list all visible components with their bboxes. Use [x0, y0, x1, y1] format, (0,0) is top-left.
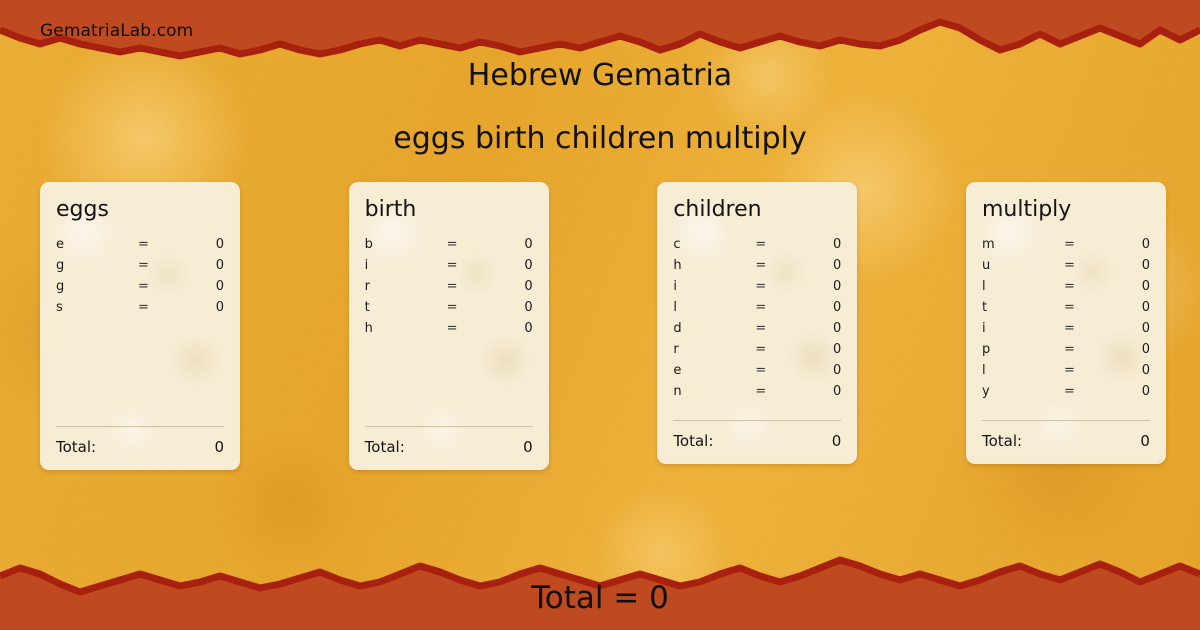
letter-row: g = 0 [56, 258, 224, 279]
letter: y [982, 384, 1064, 399]
letter: e [56, 237, 138, 252]
letter: c [673, 237, 755, 252]
letter-value: 0 [1108, 279, 1150, 294]
letter-value: 0 [1108, 384, 1150, 399]
letter-row: i = 0 [982, 321, 1150, 342]
letter-row: i = 0 [365, 258, 533, 279]
letter: e [673, 363, 755, 378]
equals-sign: = [755, 342, 799, 357]
word-card-children: children c = 0 h = 0 i = 0 l [657, 182, 857, 464]
equals-sign: = [447, 279, 491, 294]
gematria-result-card: GematriaLab.com Hebrew Gematria eggs bir… [0, 0, 1200, 630]
equals-sign: = [755, 321, 799, 336]
letter-value: 0 [491, 279, 533, 294]
letter-value: 0 [1108, 300, 1150, 315]
equals-sign: = [1064, 321, 1108, 336]
card-word: birth [365, 198, 533, 222]
card-word: children [673, 198, 841, 222]
letter: l [673, 300, 755, 315]
phrase-heading: eggs birth children multiply [0, 121, 1200, 156]
card-divider [982, 420, 1150, 421]
letter-value: 0 [491, 300, 533, 315]
letter-row: s = 0 [56, 300, 224, 321]
letter: g [56, 279, 138, 294]
letter-row: g = 0 [56, 279, 224, 300]
letter-row: h = 0 [365, 321, 533, 342]
word-card-eggs: eggs e = 0 g = 0 g = 0 s [40, 182, 240, 470]
card-spacer [365, 342, 533, 417]
letter-value: 0 [799, 321, 841, 336]
letter-row: r = 0 [673, 342, 841, 363]
equals-sign: = [1064, 342, 1108, 357]
card-total-row: Total: 0 [673, 432, 841, 450]
letter: s [56, 300, 138, 315]
equals-sign: = [138, 258, 182, 273]
card-divider [365, 426, 533, 427]
equals-sign: = [755, 300, 799, 315]
equals-sign: = [1064, 237, 1108, 252]
letter-value: 0 [491, 258, 533, 273]
equals-sign: = [447, 258, 491, 273]
total-value: 0 [1140, 432, 1150, 450]
letter-value: 0 [182, 258, 224, 273]
letter-value: 0 [491, 237, 533, 252]
letter-value: 0 [1108, 237, 1150, 252]
letter: i [982, 321, 1064, 336]
letter: p [982, 342, 1064, 357]
letter-value: 0 [1108, 363, 1150, 378]
word-card-multiply: multiply m = 0 u = 0 l = 0 t [966, 182, 1166, 464]
equals-sign: = [447, 300, 491, 315]
equals-sign: = [447, 237, 491, 252]
equals-sign: = [1064, 258, 1108, 273]
equals-sign: = [755, 384, 799, 399]
card-spacer [673, 405, 841, 411]
letter: u [982, 258, 1064, 273]
total-value: 0 [214, 438, 224, 456]
equals-sign: = [755, 237, 799, 252]
letter-value: 0 [799, 300, 841, 315]
letter-row: d = 0 [673, 321, 841, 342]
equals-sign: = [447, 321, 491, 336]
total-value: 0 [832, 432, 842, 450]
card-word: multiply [982, 198, 1150, 222]
equals-sign: = [1064, 384, 1108, 399]
card-total-row: Total: 0 [56, 438, 224, 456]
letter: i [673, 279, 755, 294]
letter: g [56, 258, 138, 273]
letter-row: e = 0 [673, 363, 841, 384]
card-word: eggs [56, 198, 224, 222]
equals-sign: = [138, 300, 182, 315]
letter: l [982, 363, 1064, 378]
letter-value: 0 [1108, 321, 1150, 336]
letter-value-rows: b = 0 i = 0 r = 0 t = 0 [365, 237, 533, 342]
letter-row: c = 0 [673, 237, 841, 258]
total-label: Total: [365, 438, 523, 456]
card-divider [673, 420, 841, 421]
card-spacer [56, 321, 224, 417]
letter: h [673, 258, 755, 273]
letter-row: t = 0 [365, 300, 533, 321]
letter-value: 0 [182, 237, 224, 252]
letter: r [365, 279, 447, 294]
site-logo[interactable]: GematriaLab.com [40, 21, 193, 41]
letter-row: m = 0 [982, 237, 1150, 258]
word-card-list: eggs e = 0 g = 0 g = 0 s [40, 182, 1166, 470]
letter-row: y = 0 [982, 384, 1150, 405]
letter: i [365, 258, 447, 273]
letter-value: 0 [182, 300, 224, 315]
total-value: 0 [523, 438, 533, 456]
equals-sign: = [1064, 363, 1108, 378]
letter-row: u = 0 [982, 258, 1150, 279]
letter: d [673, 321, 755, 336]
letter-value: 0 [799, 342, 841, 357]
letter: l [982, 279, 1064, 294]
letter-row: l = 0 [673, 300, 841, 321]
total-label: Total: [982, 432, 1140, 450]
letter-value: 0 [799, 258, 841, 273]
letter-value: 0 [799, 384, 841, 399]
letter: n [673, 384, 755, 399]
total-label: Total: [56, 438, 214, 456]
card-divider [56, 426, 224, 427]
letter-row: l = 0 [982, 279, 1150, 300]
equals-sign: = [138, 279, 182, 294]
letter-row: b = 0 [365, 237, 533, 258]
word-card-birth: birth b = 0 i = 0 r = 0 t [349, 182, 549, 470]
letter: t [365, 300, 447, 315]
letter: h [365, 321, 447, 336]
card-total-row: Total: 0 [982, 432, 1150, 450]
letter-row: p = 0 [982, 342, 1150, 363]
letter-row: r = 0 [365, 279, 533, 300]
letter: b [365, 237, 447, 252]
letter-value: 0 [1108, 258, 1150, 273]
letter: t [982, 300, 1064, 315]
letter-row: t = 0 [982, 300, 1150, 321]
letter-row: h = 0 [673, 258, 841, 279]
equals-sign: = [755, 279, 799, 294]
letter-value: 0 [1108, 342, 1150, 357]
letter-value-rows: e = 0 g = 0 g = 0 s = 0 [56, 237, 224, 321]
letter-value: 0 [799, 279, 841, 294]
total-label: Total: [673, 432, 831, 450]
equals-sign: = [755, 363, 799, 378]
letter-value: 0 [799, 363, 841, 378]
letter-row: n = 0 [673, 384, 841, 405]
equals-sign: = [138, 237, 182, 252]
letter-value: 0 [182, 279, 224, 294]
letter-value-rows: m = 0 u = 0 l = 0 t = 0 [982, 237, 1150, 405]
letter-row: i = 0 [673, 279, 841, 300]
card-spacer [982, 405, 1150, 411]
letter-value: 0 [491, 321, 533, 336]
equals-sign: = [755, 258, 799, 273]
letter-value: 0 [799, 237, 841, 252]
letter-value-rows: c = 0 h = 0 i = 0 l = 0 [673, 237, 841, 405]
grand-total: Total = 0 [0, 580, 1200, 616]
page-title: Hebrew Gematria [0, 58, 1200, 93]
letter-row: l = 0 [982, 363, 1150, 384]
equals-sign: = [1064, 300, 1108, 315]
letter: m [982, 237, 1064, 252]
letter-row: e = 0 [56, 237, 224, 258]
equals-sign: = [1064, 279, 1108, 294]
card-total-row: Total: 0 [365, 438, 533, 456]
letter: r [673, 342, 755, 357]
